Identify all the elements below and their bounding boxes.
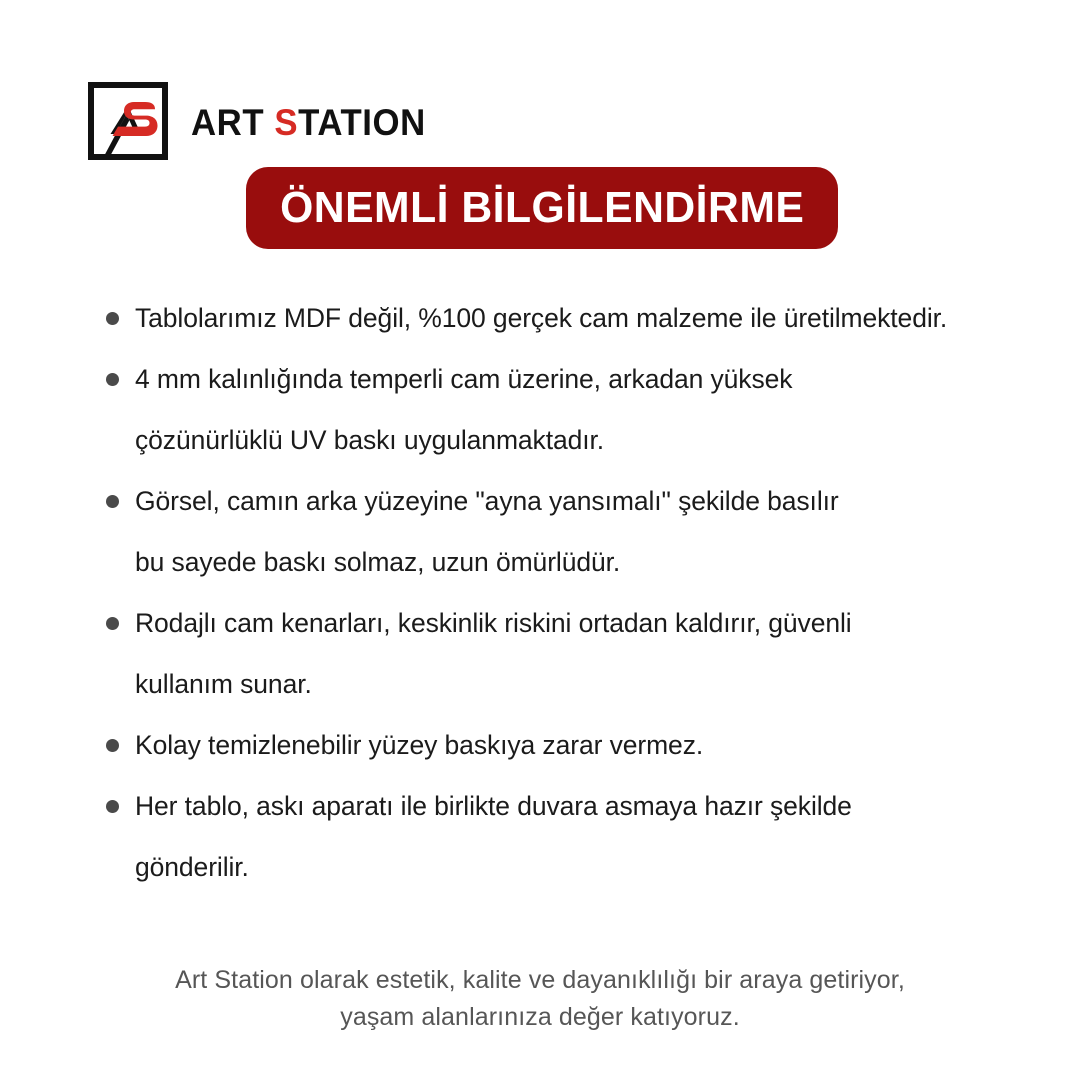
brand-name-accent-letter: S (274, 102, 298, 143)
brand-name-part-1: ART (191, 102, 274, 143)
list-item: Tablolarımız MDF değil, %100 gerçek cam … (102, 288, 1032, 349)
headline-banner-title: ÖNEMLİ BİLGİLENDİRME (280, 186, 804, 230)
headline-banner: ÖNEMLİ BİLGİLENDİRME (246, 167, 838, 249)
brand-header: ART STATION (88, 82, 441, 160)
brand-name: ART STATION (191, 102, 426, 141)
art-station-as-monogram-icon (88, 82, 174, 160)
list-item: Görsel, camın arka yüzeyine "ayna yansım… (102, 471, 1032, 593)
list-item: 4 mm kalınlığında temperli cam üzerine, … (102, 349, 1032, 471)
info-bullet-list: Tablolarımız MDF değil, %100 gerçek cam … (102, 288, 1032, 898)
list-item: Her tablo, askı aparatı ile birlikte duv… (102, 776, 1032, 898)
footer-slogan: Art Station olarak estetik, kalite ve da… (0, 962, 1080, 1036)
list-item: Kolay temizlenebilir yüzey baskıya zarar… (102, 715, 1032, 776)
list-item: Rodajlı cam kenarları, keskinlik riskini… (102, 593, 1032, 715)
informational-poster: ART STATION ÖNEMLİ BİLGİLENDİRME Tablola… (0, 0, 1080, 1080)
brand-name-part-2: TATION (298, 102, 426, 143)
